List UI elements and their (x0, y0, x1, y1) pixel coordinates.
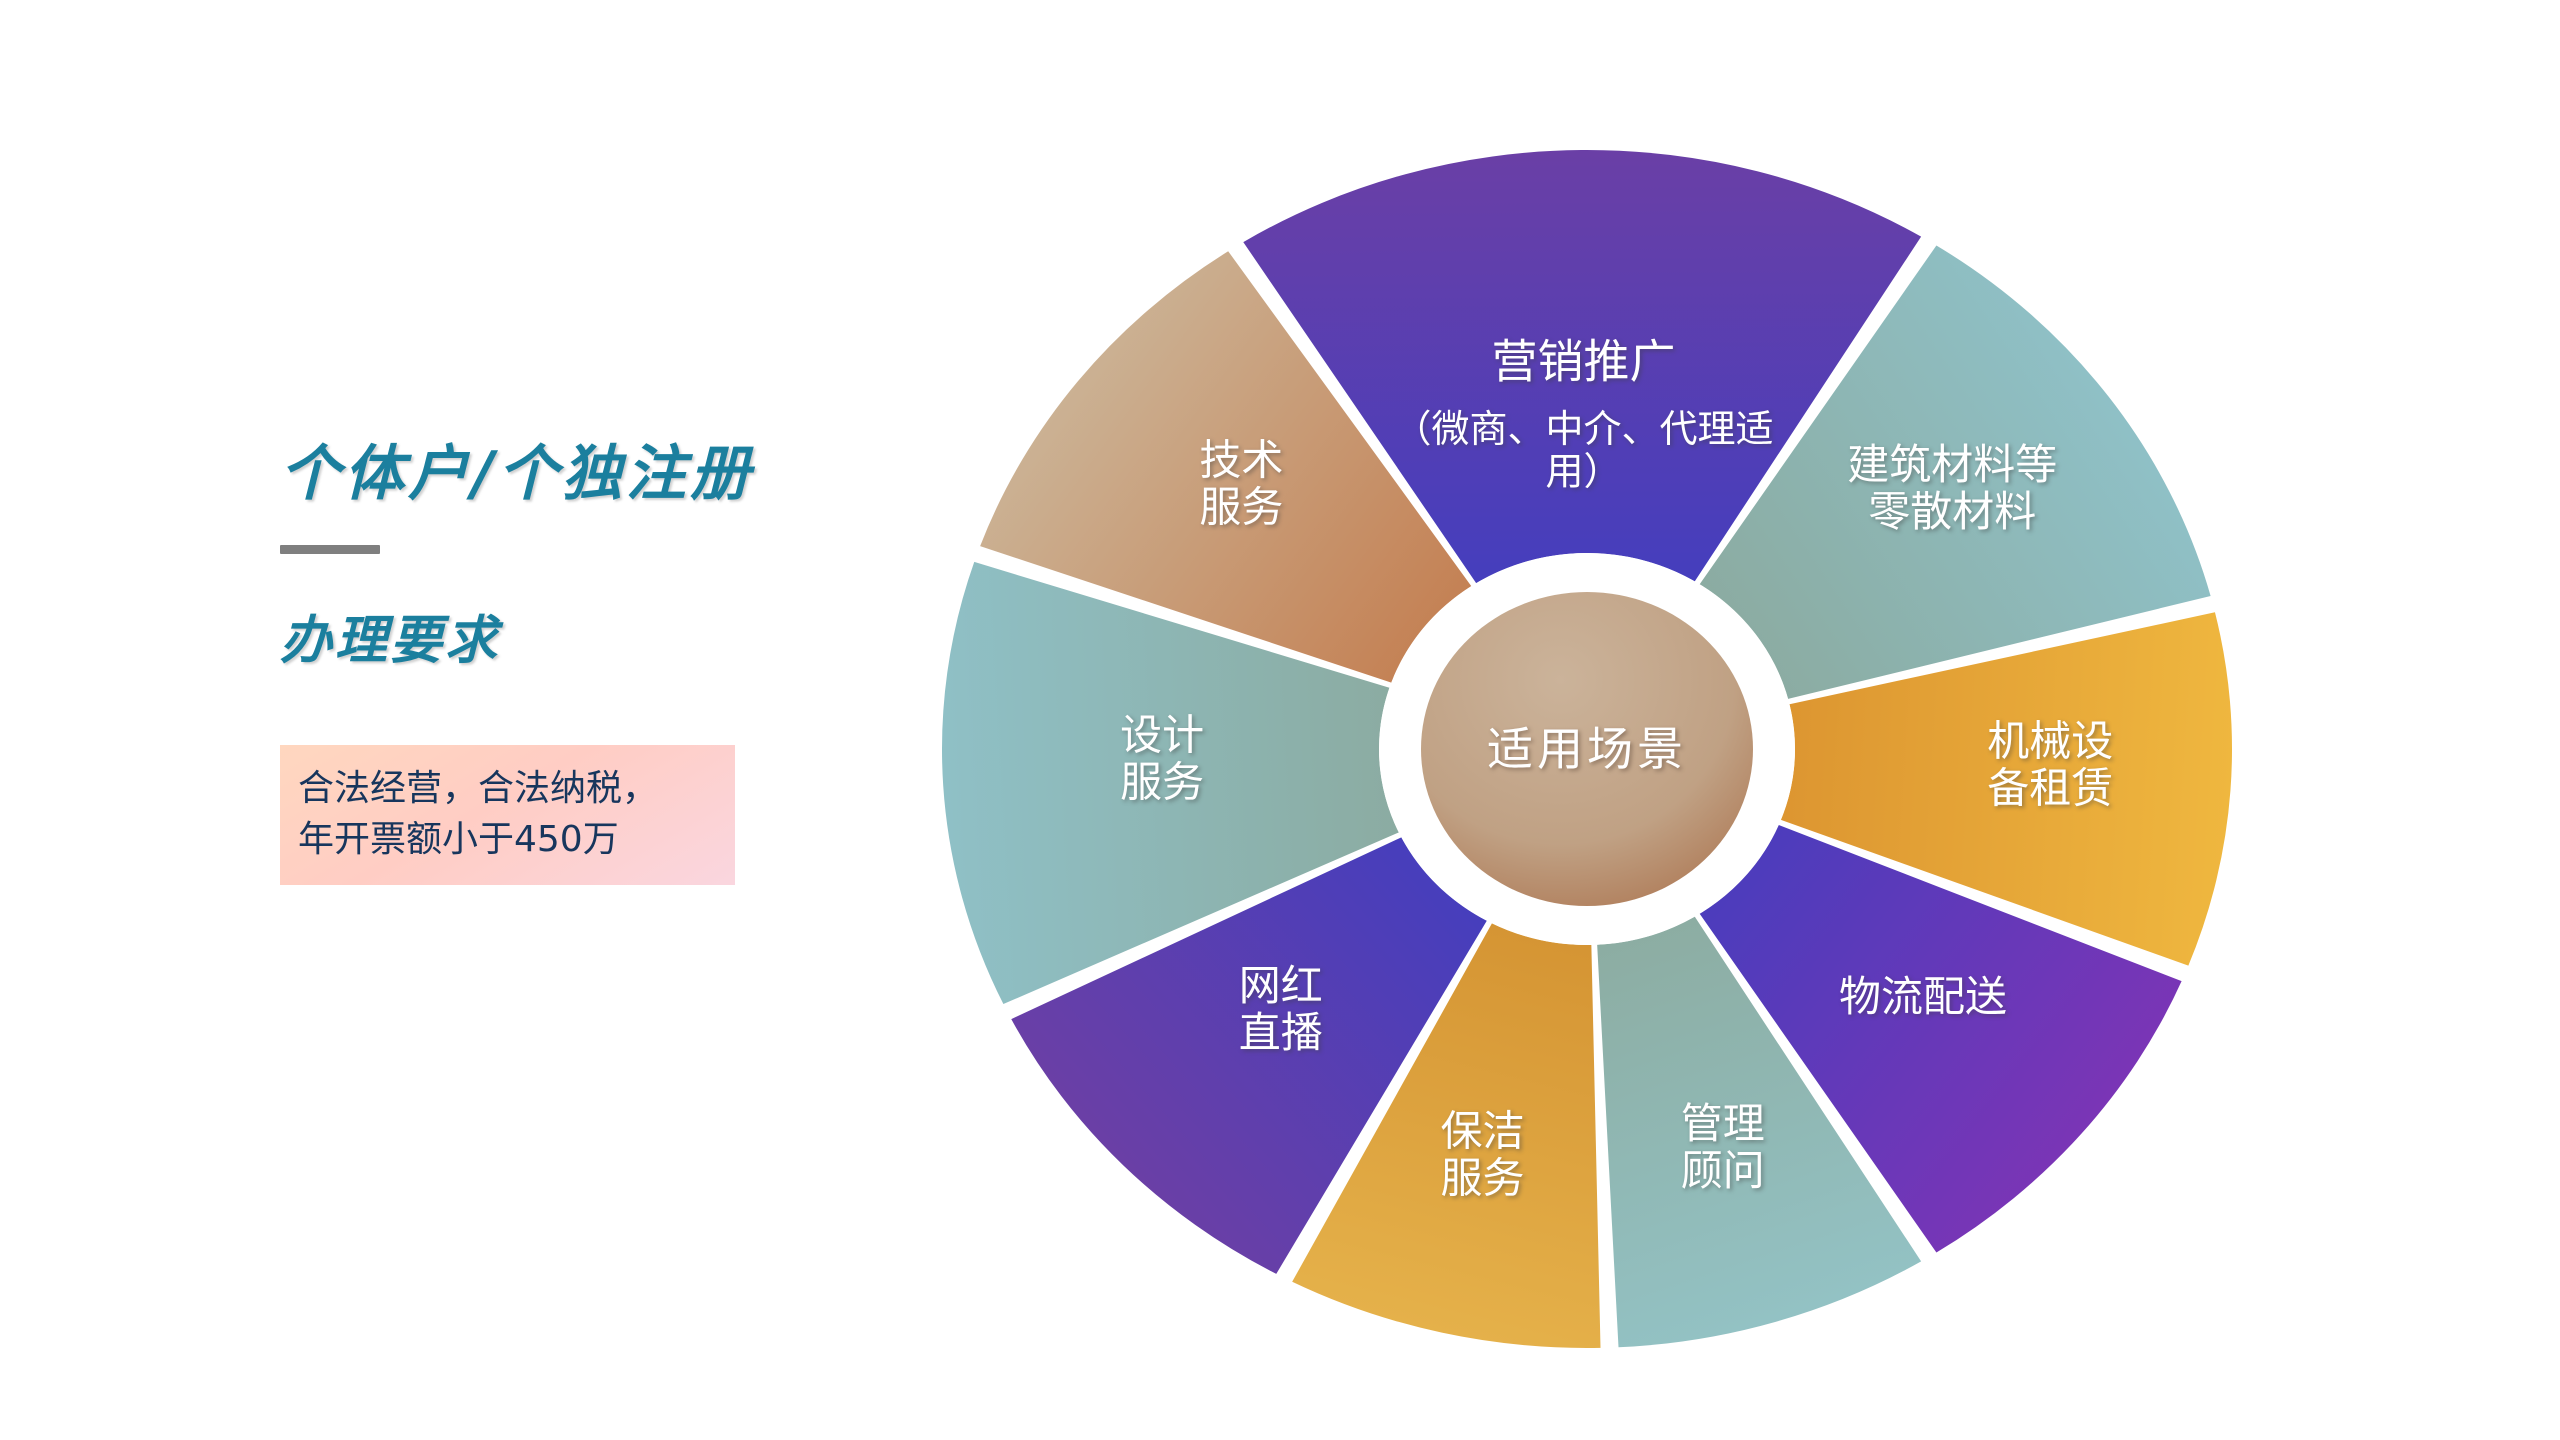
segment-label-技术服务: 技术服务 (1199, 436, 1283, 532)
segment-label-网红直播: 网红直播 (1239, 961, 1323, 1057)
section-subtitle: 办理要求 (280, 598, 920, 673)
segment-label-设计服务: 设计服务 (1120, 711, 1204, 807)
segment-label-机械设备租赁: 机械设备租赁 (1987, 717, 2113, 813)
left-text-panel: 个体户/个独注册 办理要求 合法经营，合法纳税， 年开票额小于450万 (280, 440, 920, 885)
segment-label-管理顾问: 管理顾问 (1681, 1099, 1765, 1195)
applicable-scenarios-donut: 适用场景 营销推广（微商、中介、代理适用）建筑材料等零散材料机械设备租赁物流配送… (900, 90, 2300, 1410)
segment-label-物流配送: 物流配送 (1839, 972, 2007, 1021)
center-label-text: 适用场景 (1487, 722, 1687, 776)
page-title: 个体户/个独注册 (280, 440, 920, 509)
segment-label-建筑材料等零散材料: 建筑材料等零散材料 (1847, 440, 2057, 536)
requirement-note-line2: 年开票额小于450万 (298, 814, 719, 865)
requirement-note-line1: 合法经营，合法纳税， (298, 763, 719, 814)
title-divider (280, 545, 380, 554)
requirement-note: 合法经营，合法纳税， 年开票额小于450万 (280, 745, 735, 885)
slide-canvas: 个体户/个独注册 办理要求 合法经营，合法纳税， 年开票额小于450万 适用场景… (0, 0, 2560, 1440)
segment-label-保洁服务: 保洁服务 (1441, 1107, 1525, 1203)
donut-center: 适用场景 (1379, 553, 1795, 945)
